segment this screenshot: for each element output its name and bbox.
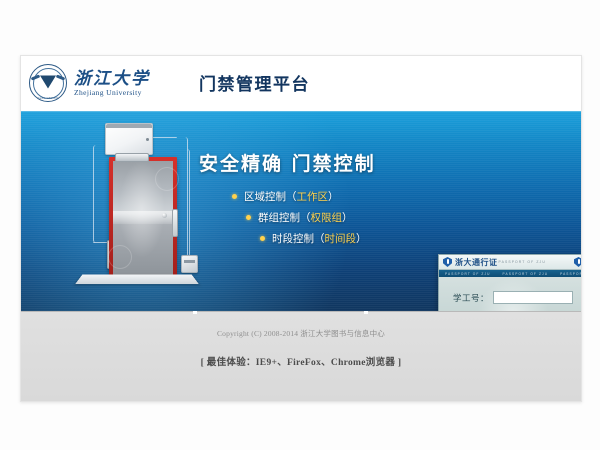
site-header: ZHEJIANG UNIVERSITY 浙江大学 Zhejiang Univer… (21, 56, 581, 111)
login-panel: 浙大通行证 PASSPORT OF ZJU PASSPORT OF ZJU PA… (438, 254, 581, 311)
bullet-dot-icon (232, 194, 237, 199)
zju-seal-logo-icon: ZHEJIANG UNIVERSITY (29, 64, 67, 102)
footer-divider-mark (193, 311, 197, 314)
brand-lockup[interactable]: ZHEJIANG UNIVERSITY 浙江大学 Zhejiang Univer… (29, 64, 150, 102)
bullet-dot-icon (246, 215, 251, 220)
card-reader (181, 255, 198, 273)
bullet-highlight: 工作区 (297, 189, 329, 204)
footer-divider-mark (364, 311, 368, 314)
bullet-tail: ） (342, 210, 353, 225)
login-panel-title: 浙大通行证 (455, 257, 498, 268)
bullet-text: 时段控制（ (272, 231, 325, 246)
floor-plate (75, 275, 199, 284)
login-panel-subtitle: PASSPORT OF ZJU (499, 260, 546, 264)
door-access-control-illustration (53, 115, 203, 293)
shield-icon-right (574, 257, 581, 267)
door-handle (172, 209, 178, 237)
bullet-text: 群组控制（ (258, 210, 311, 225)
bullet-text: 区域控制（ (244, 189, 297, 204)
seal-qiushi-emblem (40, 75, 56, 88)
door-lock-knob-icon (162, 213, 167, 218)
controller-box (105, 123, 153, 155)
username-label: 学工号： (439, 292, 493, 304)
feature-bullet-time-control: 时段控制（时间段） (260, 231, 367, 246)
door-closer (115, 153, 149, 162)
glass-door-panel (113, 161, 173, 275)
hero-slogan: 安全精确 门禁控制 (199, 149, 376, 176)
feature-bullet-area-control: 区域控制（工作区） (232, 189, 339, 204)
university-name-en: Zhejiang University (74, 89, 150, 97)
door-ornament-top (155, 167, 179, 191)
seal-arc-text: ZHEJIANG UNIVERSITY (30, 97, 66, 100)
browser-support-note: [ 最佳体验：IE9+、FireFox、Chrome浏览器 ] (21, 354, 581, 368)
shield-icon (443, 257, 452, 267)
page-title: 门禁管理平台 (199, 70, 310, 95)
bullet-tail: ） (328, 189, 339, 204)
hero-banner: 安全精确 门禁控制 区域控制（工作区） 群组控制（权限组） 时段控制（时间段） … (21, 111, 581, 311)
username-row: 学工号： (439, 291, 581, 304)
strip-text: PASSPORT OF ZJU (439, 272, 497, 276)
passport-watermark-strip: PASSPORT OF ZJU PASSPORT OF ZJU PASSPORT… (439, 270, 581, 277)
university-name-block: 浙江大学 Zhejiang University (74, 70, 150, 97)
strip-text: PASSPORT OF ZJU (497, 272, 555, 276)
red-door-frame (109, 157, 177, 275)
controller-led-icon (146, 138, 149, 141)
bullet-dot-icon (260, 236, 265, 241)
login-panel-titlebar: 浙大通行证 PASSPORT OF ZJU (439, 255, 581, 270)
page-root: ZHEJIANG UNIVERSITY 浙江大学 Zhejiang Univer… (0, 0, 600, 450)
site-card: ZHEJIANG UNIVERSITY 浙江大学 Zhejiang Univer… (20, 55, 582, 402)
username-input[interactable] (493, 291, 573, 304)
card-reader-slot (184, 260, 195, 263)
controller-top-bar (106, 124, 152, 128)
site-footer: Copyright (C) 2008-2014 浙江大学图书与信息中心 [ 最佳… (21, 311, 581, 401)
strip-text: PASSPORT OF ZJU (554, 272, 581, 276)
university-name-cn: 浙江大学 (74, 70, 150, 87)
copyright-text: Copyright (C) 2008-2014 浙江大学图书与信息中心 (21, 328, 581, 339)
bullet-highlight: 权限组 (311, 210, 343, 225)
bullet-tail: ） (356, 231, 367, 246)
feature-bullet-group-control: 群组控制（权限组） (246, 210, 353, 225)
bullet-highlight: 时间段 (325, 231, 357, 246)
door-ornament-bottom (108, 245, 132, 269)
hero-top-highlight (21, 111, 581, 112)
